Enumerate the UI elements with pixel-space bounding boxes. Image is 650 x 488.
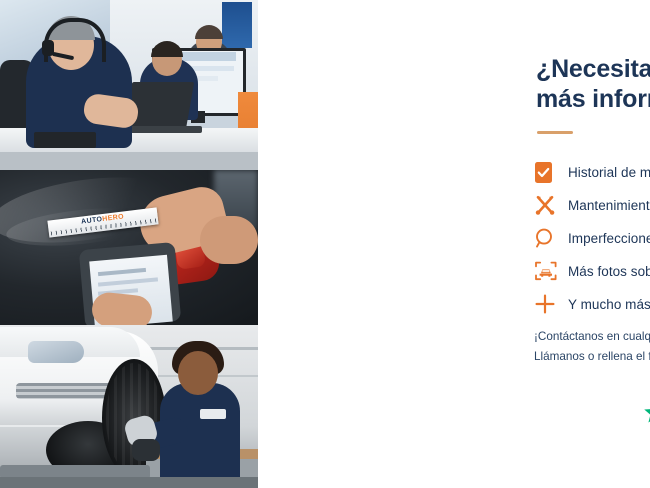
- title-divider: [537, 131, 573, 134]
- feature-label: Y mucho más: [568, 297, 650, 312]
- photo-desk-edge: [0, 152, 258, 170]
- photo-car-headlight: [28, 341, 84, 363]
- feature-item-much-more: Y mucho más: [534, 288, 650, 320]
- plus-icon: [534, 291, 568, 317]
- photo-poster: [222, 2, 252, 48]
- promo-banner: AUTOHERO: [0, 0, 650, 488]
- content-panel: ¿Necesitas más información? Estamos enca…: [258, 0, 650, 488]
- call-center-agent-photo: [0, 0, 258, 170]
- photo-column: AUTOHERO: [0, 0, 258, 488]
- photo-mechanic-glove: [132, 439, 160, 461]
- car-scan-icon: [534, 258, 568, 284]
- page-title: ¿Necesitas más información?: [536, 54, 650, 114]
- magnifier-icon: [534, 225, 568, 251]
- page-title-line1: ¿Necesitas: [536, 55, 650, 83]
- car-inspection-ruler-photo: AUTOHERO: [0, 170, 258, 325]
- trustpilot-logo[interactable]: Trustpilot: [643, 400, 650, 425]
- contact-text: ¡Contáctanos en cualquier momento para m…: [534, 327, 650, 367]
- document-check-icon: [534, 159, 568, 185]
- mechanic-wheel-photo: [0, 325, 258, 488]
- photo-shop-floor: [0, 477, 258, 488]
- ruler-brand-hero: HERO: [102, 213, 125, 223]
- feature-list: Historial de mantenimientos Mantenimient…: [534, 156, 650, 321]
- feature-item-maintenance-history: Historial de mantenimientos: [534, 156, 650, 188]
- photo-car-grille: [16, 383, 112, 399]
- photo-forearm: [200, 216, 258, 264]
- feature-item-maintenance-done: Mantenimiento realizado: [534, 189, 650, 221]
- feature-item-imperfections: Imperfecciones: [534, 222, 650, 254]
- photo-tablet: [34, 132, 96, 148]
- page-title-line2: más información?: [536, 84, 650, 114]
- photo-car-bumper: [0, 399, 118, 425]
- photo-uniform-logo: [200, 409, 226, 419]
- trustpilot-star-icon: [643, 400, 650, 425]
- tools-icon: [534, 192, 568, 218]
- feature-label: Historial de mantenimientos: [568, 165, 650, 180]
- ruler-brand-auto: AUTO: [81, 216, 103, 226]
- contact-line1: ¡Contáctanos en cualquier momento para m…: [534, 327, 650, 347]
- feature-label: Imperfecciones: [568, 231, 650, 246]
- contact-line2: Llámanos o rellena el formulario de cont…: [534, 347, 650, 367]
- trustpilot-widget[interactable]: Trustpilot Excelente: [643, 387, 650, 449]
- photo-mechanic-head: [178, 351, 218, 395]
- feature-item-more-photos: Más fotos sobre el coche: [534, 255, 650, 287]
- feature-label: Mantenimiento realizado: [568, 198, 650, 213]
- feature-label: Más fotos sobre el coche: [568, 264, 650, 279]
